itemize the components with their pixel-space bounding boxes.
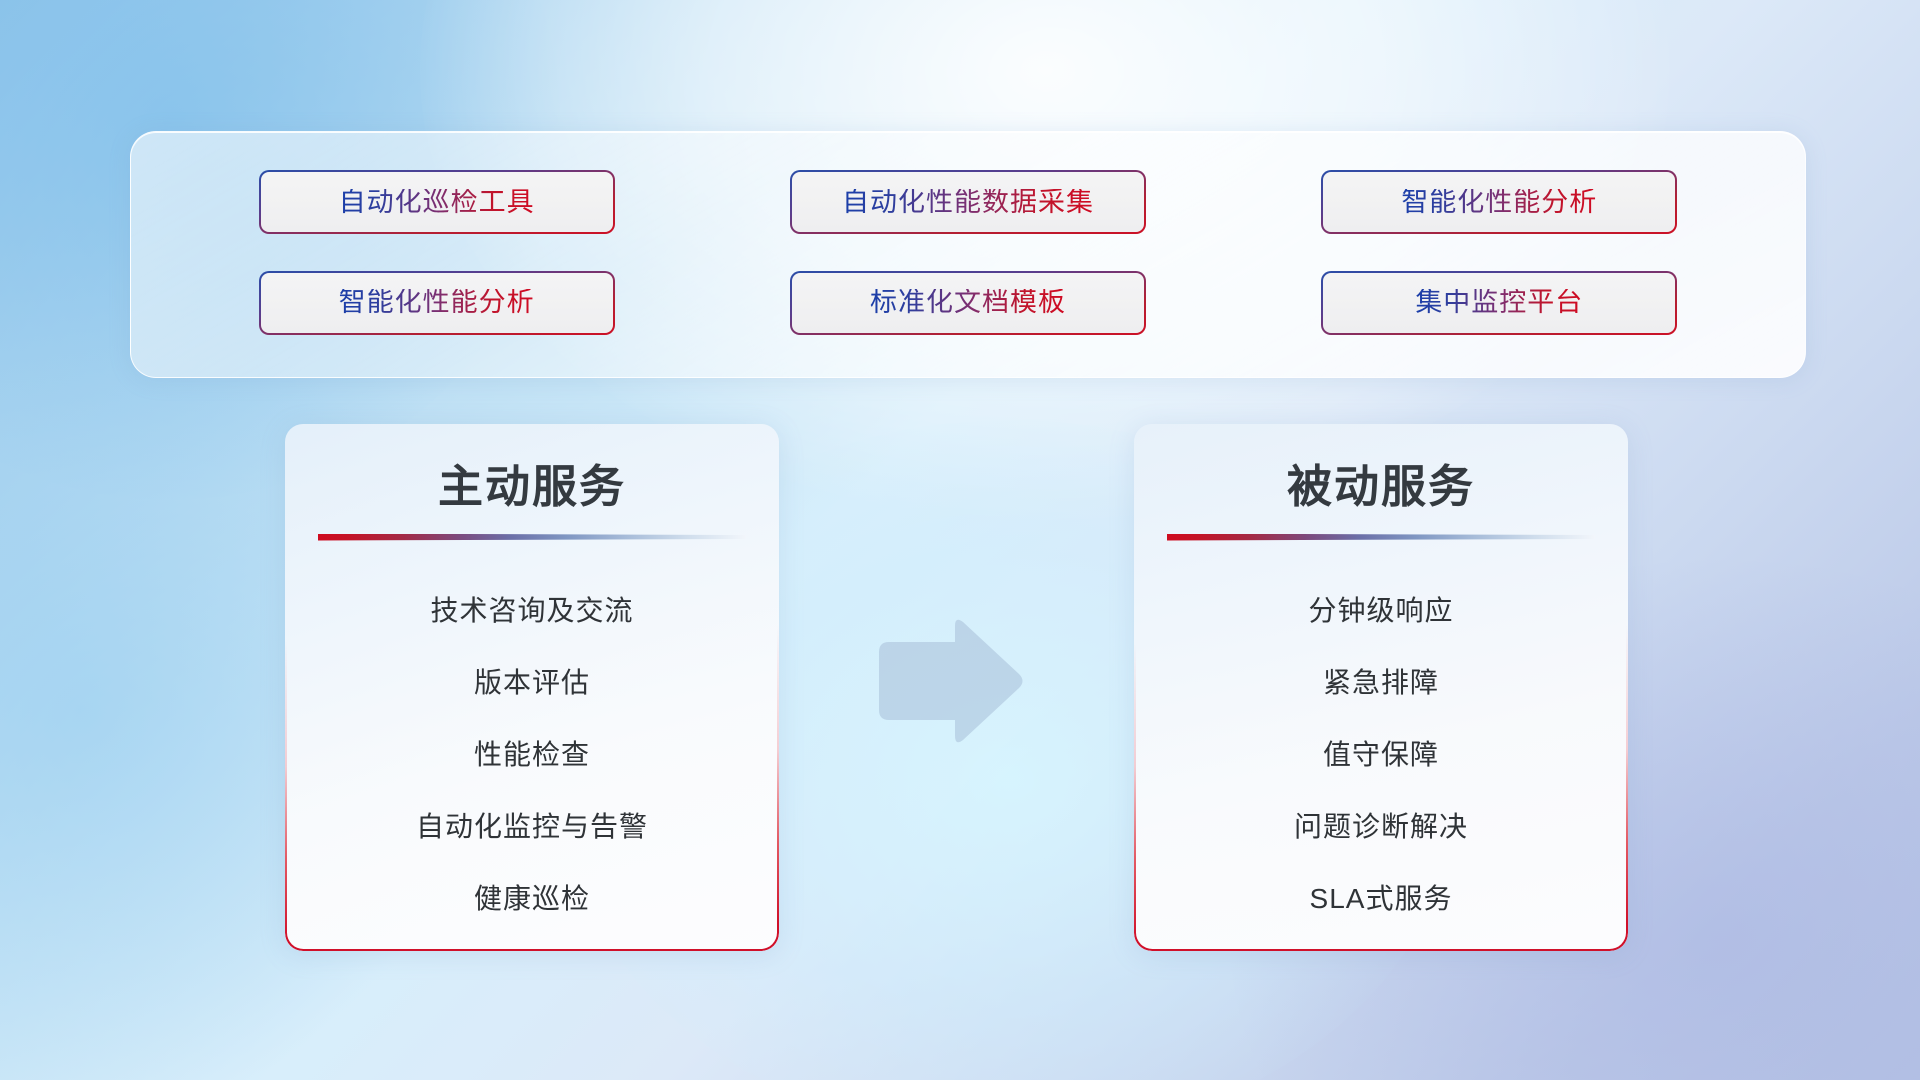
proactive-card-divider bbox=[318, 534, 746, 541]
list-item: 技术咨询及交流 bbox=[430, 575, 633, 647]
capability-pill-6[interactable]: 集中监控平台 bbox=[1321, 271, 1677, 335]
capability-pill-1-label: 自动化巡检工具 bbox=[339, 189, 535, 216]
capability-pill-5[interactable]: 标准化文档模板 bbox=[790, 271, 1146, 335]
list-item: 自动化监控与告警 bbox=[416, 791, 648, 863]
capability-pill-3-label: 智能化性能分析 bbox=[1401, 189, 1597, 216]
capability-pill-4-label: 智能化性能分析 bbox=[339, 289, 535, 316]
list-item: 值守保障 bbox=[1323, 719, 1439, 791]
list-item: 性能检查 bbox=[474, 719, 590, 791]
list-item: 问题诊断解决 bbox=[1294, 791, 1468, 863]
list-item: 分钟级响应 bbox=[1308, 575, 1453, 647]
reactive-card-inner: 被动服务 分钟级响应 紧急排障 值守保障 问题诊断解决 SLA式服务 bbox=[1136, 426, 1626, 949]
reactive-card-item-list: 分钟级响应 紧急排障 值守保障 问题诊断解决 SLA式服务 bbox=[1136, 575, 1626, 935]
list-item: 紧急排障 bbox=[1323, 647, 1439, 719]
list-item: 健康巡检 bbox=[474, 863, 590, 935]
capability-pill-5-label: 标准化文档模板 bbox=[870, 289, 1066, 316]
capability-pill-1[interactable]: 自动化巡检工具 bbox=[259, 170, 615, 234]
proactive-card-item-list: 技术咨询及交流 版本评估 性能检查 自动化监控与告警 健康巡检 bbox=[287, 575, 777, 935]
reactive-card-divider bbox=[1167, 534, 1595, 541]
list-item: SLA式服务 bbox=[1310, 863, 1453, 935]
capability-pill-4[interactable]: 智能化性能分析 bbox=[259, 271, 615, 335]
slide-canvas: 自动化巡检工具 自动化性能数据采集 智能化性能分析 智能化性能分析 标准化文档模… bbox=[0, 0, 1920, 1080]
capability-pill-3-body: 智能化性能分析 bbox=[1323, 172, 1675, 232]
capability-pill-6-body: 集中监控平台 bbox=[1323, 273, 1675, 333]
reactive-card-title: 被动服务 bbox=[1287, 462, 1475, 512]
capability-pill-1-body: 自动化巡检工具 bbox=[261, 172, 613, 232]
arrow-right-icon bbox=[871, 614, 1026, 748]
capability-pill-4-body: 智能化性能分析 bbox=[261, 273, 613, 333]
reactive-service-card[interactable]: 被动服务 分钟级响应 紧急排障 值守保障 问题诊断解决 SLA式服务 bbox=[1134, 424, 1628, 951]
capability-pill-2-label: 自动化性能数据采集 bbox=[842, 189, 1094, 216]
capability-pill-5-body: 标准化文档模板 bbox=[792, 273, 1144, 333]
proactive-card-title: 主动服务 bbox=[438, 462, 626, 512]
proactive-service-card[interactable]: 主动服务 技术咨询及交流 版本评估 性能检查 自动化监控与告警 健康巡检 bbox=[285, 424, 779, 951]
proactive-card-inner: 主动服务 技术咨询及交流 版本评估 性能检查 自动化监控与告警 健康巡检 bbox=[287, 426, 777, 949]
capability-pill-6-label: 集中监控平台 bbox=[1415, 289, 1583, 316]
capability-pill-2-body: 自动化性能数据采集 bbox=[792, 172, 1144, 232]
capabilities-panel: 自动化巡检工具 自动化性能数据采集 智能化性能分析 智能化性能分析 标准化文档模… bbox=[130, 131, 1806, 378]
capability-pill-2[interactable]: 自动化性能数据采集 bbox=[790, 170, 1146, 234]
capability-pill-3[interactable]: 智能化性能分析 bbox=[1321, 170, 1677, 234]
list-item: 版本评估 bbox=[474, 647, 590, 719]
